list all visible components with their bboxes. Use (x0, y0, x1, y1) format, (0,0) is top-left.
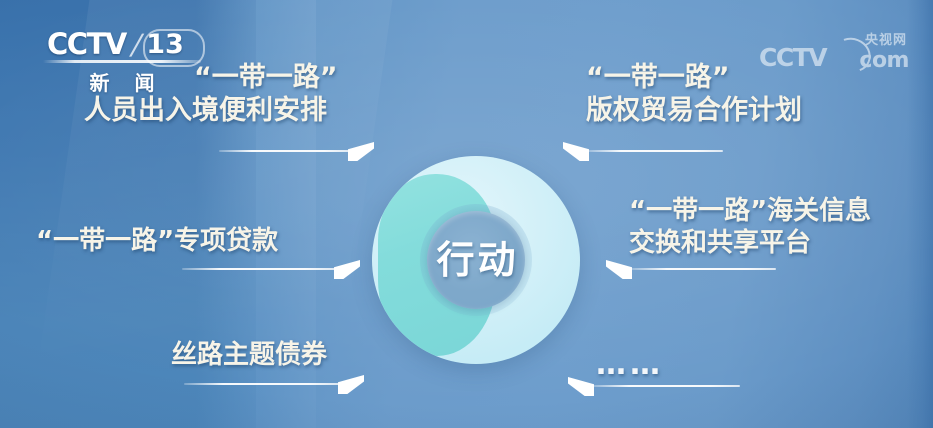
connector-top-left (219, 140, 374, 162)
connector-bottom-left-rule (184, 383, 340, 385)
connector-top-left-tip (348, 142, 374, 161)
center-graphic: 行动 (372, 156, 580, 364)
center-label-text: 行动 (433, 241, 518, 279)
connector-top-right-rule (587, 150, 723, 152)
node-mid-right-line2: 交换和共享平台 (629, 228, 933, 260)
connector-top-left-rule (219, 150, 350, 152)
node-top-left: “一带一路” 人员出入境便利安排 (84, 62, 384, 128)
connector-bottom-right-rule (592, 385, 740, 387)
connector-mid-right (606, 258, 776, 280)
connector-mid-left-tip (334, 260, 360, 279)
connector-mid-right-tip (606, 260, 632, 279)
cctv-wordmark: CCTV (47, 30, 126, 59)
connector-mid-left-rule (182, 268, 336, 270)
connector-mid-right-rule (630, 268, 776, 270)
node-top-right-line1: “一带一路” (586, 62, 886, 95)
node-top-right-line2: 版权贸易合作计划 (586, 95, 886, 128)
node-top-left-line2: 人员出入境便利安排 (84, 95, 384, 128)
node-mid-right-line1: “一带一路”海关信息 (629, 196, 933, 228)
connector-mid-left (182, 258, 360, 280)
center-inner-disc: 行动 (427, 211, 525, 309)
connector-top-right-tip (563, 142, 589, 161)
connector-bottom-right-tip (568, 377, 594, 396)
node-bottom-left-line1: 丝路主题债券 (171, 340, 431, 372)
node-bottom-left: 丝路主题债券 (171, 340, 431, 372)
connector-bottom-left (184, 373, 364, 395)
broadcast-infographic-frame: CCTV / 13 新 闻 CCTV 央视网 com 行动 “一带一路” 人员出… (0, 0, 933, 428)
connector-bottom-left-tip (338, 375, 364, 394)
node-top-left-line1: “一带一路” (84, 62, 384, 95)
node-mid-left: “一带一路”专项贷款 (36, 226, 356, 258)
node-top-right: “一带一路” 版权贸易合作计划 (586, 62, 886, 128)
node-mid-right: “一带一路”海关信息 交换和共享平台 (629, 196, 933, 259)
connector-top-right (563, 140, 723, 162)
node-mid-left-line1: “一带一路”专项贷款 (36, 226, 356, 258)
watermark-chinese-label: 央视网 (865, 34, 907, 47)
connector-bottom-right (568, 375, 740, 397)
